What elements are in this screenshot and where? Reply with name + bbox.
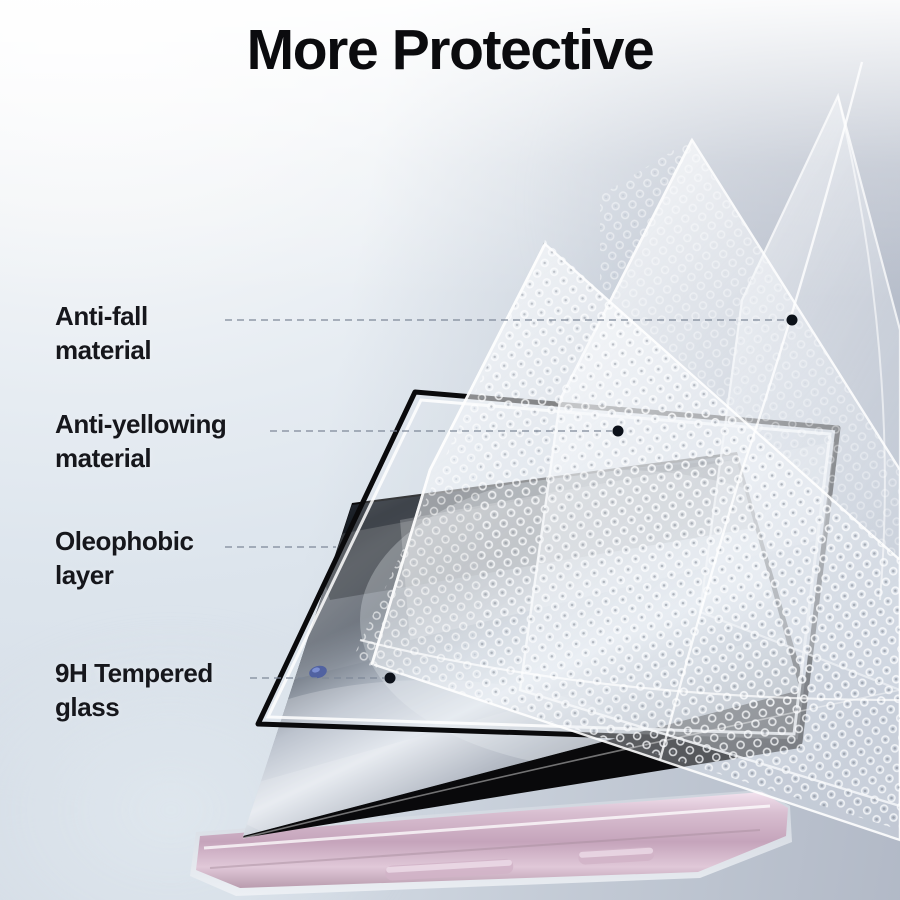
leader-dot-tempered-glass	[385, 673, 396, 684]
product-image-scene: More Protective Anti-fall material Anti-…	[0, 0, 900, 900]
leader-dot-anti-yellowing	[613, 426, 624, 437]
callout-label-oleophobic: Oleophobic layer	[55, 525, 194, 593]
page-title: More Protective	[0, 20, 900, 82]
callout-label-tempered-glass: 9H Tempered glass	[55, 657, 213, 725]
leader-dot-anti-fall	[787, 315, 798, 326]
callout-label-anti-yellowing: Anti-yellowing material	[55, 408, 226, 476]
callout-label-anti-fall: Anti-fall material	[55, 300, 151, 368]
